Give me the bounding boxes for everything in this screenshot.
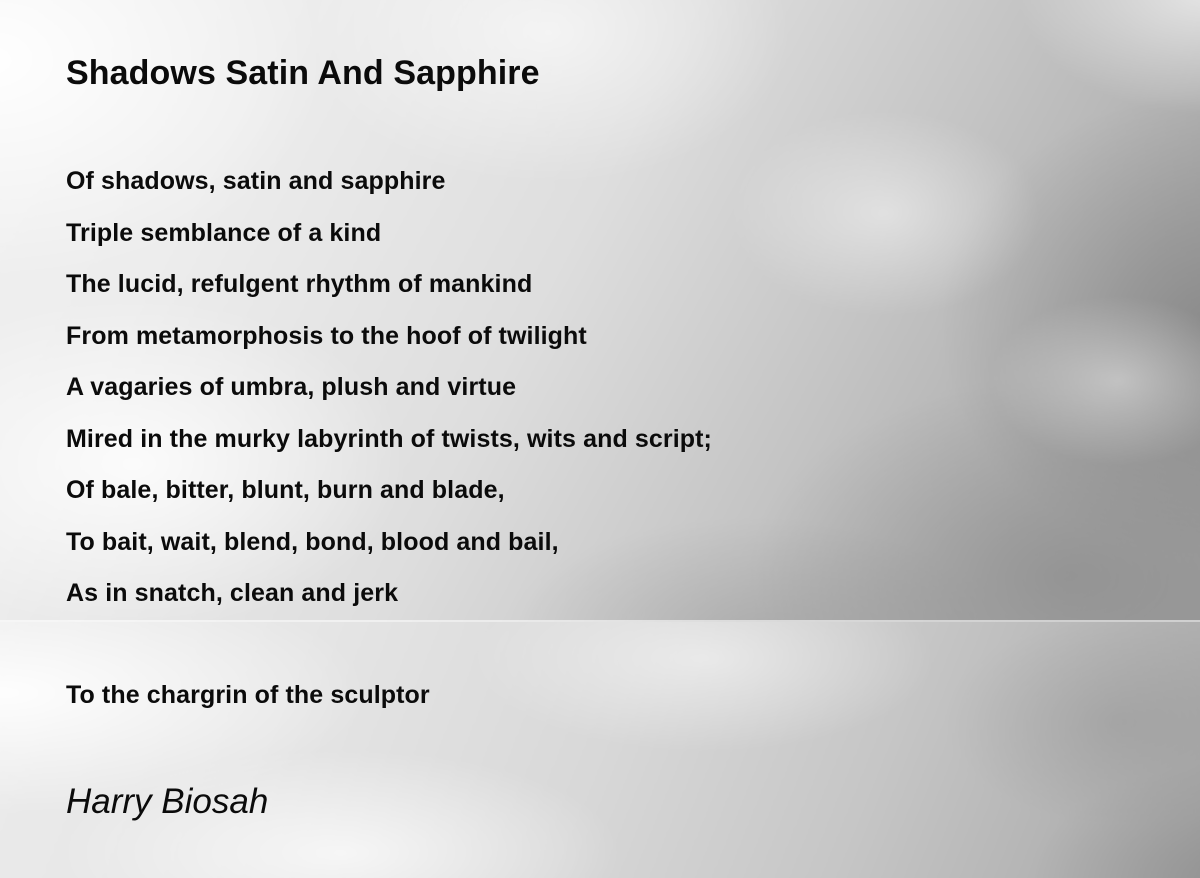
poem-body: Of shadows, satin and sapphire Triple se… [66,156,712,620]
poem-line: A vagaries of umbra, plush and virtue [66,362,712,414]
poem-line: Mired in the murky labyrinth of twists, … [66,414,712,466]
poem-content: Shadows Satin And Sapphire Of shadows, s… [0,0,1200,878]
poem-image-card: Shadows Satin And Sapphire Of shadows, s… [0,0,1200,878]
poem-line: As in snatch, clean and jerk [66,568,712,620]
poem-author-name: Harry Biosah [66,780,268,824]
poem-title: Shadows Satin And Sapphire [66,51,540,95]
poem-line: The lucid, refulgent rhythm of mankind [66,259,712,311]
poem-line: To bait, wait, blend, bond, blood and ba… [66,517,712,569]
poem-line: Triple semblance of a kind [66,208,712,260]
poem-line: Of shadows, satin and sapphire [66,156,712,208]
poem-line: Of bale, bitter, blunt, burn and blade, [66,465,712,517]
poem-closing-line: To the chargrin of the sculptor [66,678,430,712]
poem-line: From metamorphosis to the hoof of twilig… [66,311,712,363]
